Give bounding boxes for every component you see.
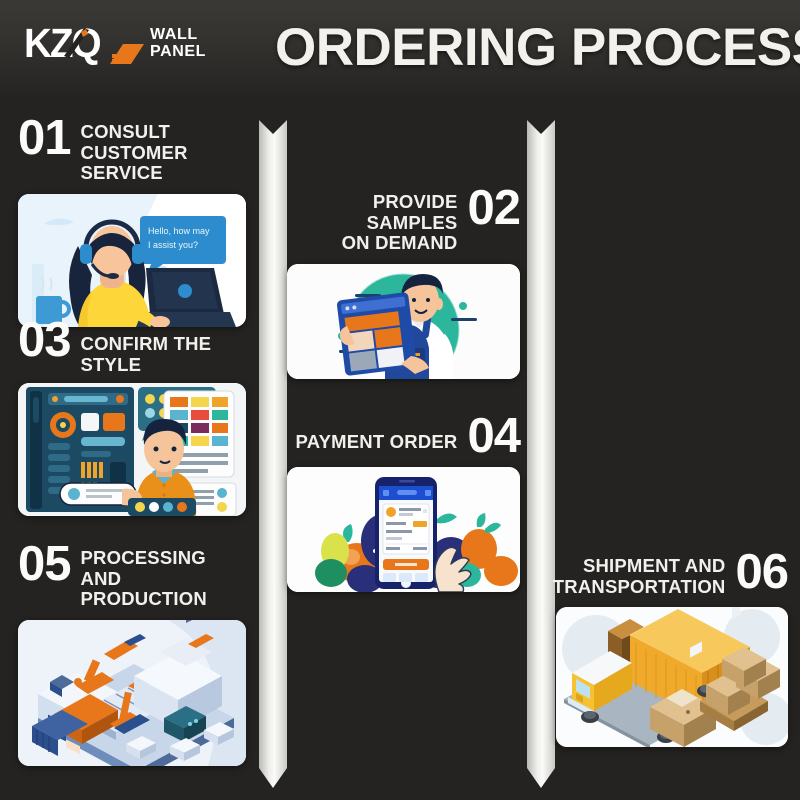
step-01-head: 01 CONSULT CUSTOMER SERVICE — [18, 116, 246, 184]
mobile-payment-illustration — [287, 467, 520, 592]
step-01-label: CONSULT CUSTOMER SERVICE — [81, 116, 246, 184]
logo-subtext-line1: WALL — [150, 26, 206, 43]
page-title: ORDERING PROCESS — [275, 17, 800, 78]
step-02-number: 02 — [467, 186, 520, 231]
step-01: 01 CONSULT CUSTOMER SERVICE Hello, how m… — [18, 116, 246, 327]
step-05: 05 PROCESSING AND PRODUCTION — [18, 542, 246, 766]
step-05-label: PROCESSING AND PRODUCTION — [81, 542, 246, 610]
step-02-label: PROVIDE SAMPLES ON DEMAND — [287, 186, 457, 254]
header: KZQ WALL PANEL ORDERING PROCESS — [0, 0, 800, 98]
delivery-truck-boxes-illustration — [556, 607, 788, 747]
brand-logo: KZQ WALL PANEL — [24, 20, 206, 66]
logo-house-icon — [110, 42, 144, 64]
designer-color-palette-illustration — [18, 383, 246, 516]
ribbon-divider-right — [527, 120, 555, 788]
logo-mark: KZQ — [24, 20, 148, 66]
step-03-card — [18, 383, 246, 516]
logo-subtext-line2: PANEL — [150, 43, 206, 60]
step-02: PROVIDE SAMPLES ON DEMAND 02 — [287, 186, 520, 379]
step-04-number: 04 — [467, 414, 520, 459]
customer-service-agent-illustration: Hello, how may I assist you? — [18, 194, 246, 327]
step-04-head: PAYMENT ORDER 04 — [287, 414, 520, 459]
step-04-label: PAYMENT ORDER — [296, 414, 458, 453]
step-03: 03 CONFIRM THE STYLE — [18, 318, 246, 516]
step-02-card — [287, 264, 520, 379]
infographic-page: KZQ WALL PANEL ORDERING PROCESS — [0, 0, 800, 800]
worker-holding-sample-board-illustration — [287, 264, 520, 379]
step-06-card — [556, 607, 788, 747]
step-06-label: SHIPMENT AND TRANSPORTATION — [553, 550, 726, 597]
step-04: PAYMENT ORDER 04 — [287, 414, 520, 592]
svg-text:I assist you?: I assist you? — [148, 240, 198, 250]
isometric-factory-illustration — [18, 620, 246, 766]
step-01-number: 01 — [18, 116, 71, 161]
step-02-head: PROVIDE SAMPLES ON DEMAND 02 — [287, 186, 520, 254]
step-03-head: 03 CONFIRM THE STYLE — [18, 318, 246, 375]
step-03-number: 03 — [18, 318, 71, 363]
step-05-number: 05 — [18, 542, 71, 587]
step-01-card: Hello, how may I assist you? — [18, 194, 246, 327]
step-04-card — [287, 467, 520, 592]
step-05-card — [18, 620, 246, 766]
ribbon-divider-left — [259, 120, 287, 788]
logo-subtext: WALL PANEL — [150, 26, 206, 60]
step-06-number: 06 — [735, 550, 788, 595]
step-03-label: CONFIRM THE STYLE — [81, 318, 246, 375]
step-06: SHIPMENT AND TRANSPORTATION 06 — [556, 550, 788, 747]
step-06-head: SHIPMENT AND TRANSPORTATION 06 — [556, 550, 788, 597]
step-05-head: 05 PROCESSING AND PRODUCTION — [18, 542, 246, 610]
svg-text:Hello, how may: Hello, how may — [148, 226, 210, 236]
